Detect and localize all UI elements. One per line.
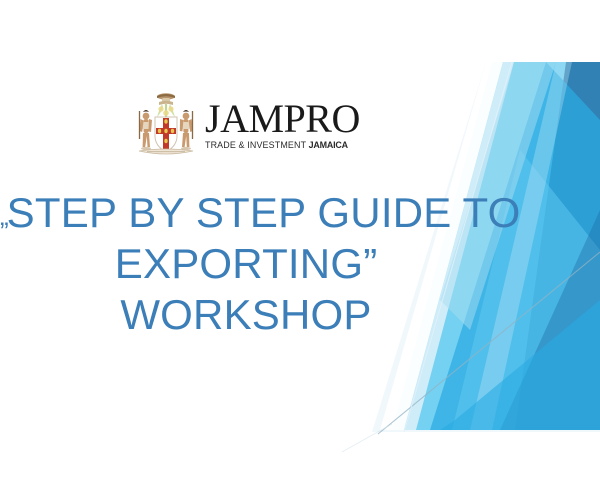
decor-accent-diagonal-line-fade [342, 424, 392, 452]
title-line-2: EXPORTING” [0, 239, 492, 290]
jampro-logo: JAMPRO TRADE & INVESTMENT JAMAICA [135, 88, 370, 162]
title-line-3: WORKSHOP [0, 290, 492, 341]
title-line-1-text: STEP BY STEP GUIDE TO [7, 189, 521, 236]
jampro-wordmark: JAMPRO TRADE & INVESTMENT JAMAICA [205, 100, 365, 149]
crest-supporter-left [139, 110, 152, 150]
title-close-quote: ” [363, 240, 377, 287]
title-open-quote: „ [0, 201, 7, 231]
decor-shape-deep-facet [500, 210, 600, 430]
jampro-wordmark-text: JAMPRO [205, 100, 365, 138]
title-line-2-text: EXPORTING [115, 240, 363, 287]
jamaica-coat-of-arms-icon [135, 89, 197, 161]
jampro-tagline-prefix: TRADE & INVESTMENT [205, 140, 309, 150]
crest-supporter-right [180, 110, 193, 150]
decor-shape-steel-column [515, 62, 600, 430]
slide-title: „STEP BY STEP GUIDE TO EXPORTING” WORKSH… [0, 188, 492, 340]
jampro-tagline: TRADE & INVESTMENT JAMAICA [205, 140, 360, 150]
title-line-1: „STEP BY STEP GUIDE TO [0, 188, 492, 239]
presentation-title-slide: JAMPRO TRADE & INVESTMENT JAMAICA „STEP … [0, 0, 600, 504]
jampro-tagline-jamaica: JAMAICA [309, 140, 348, 150]
